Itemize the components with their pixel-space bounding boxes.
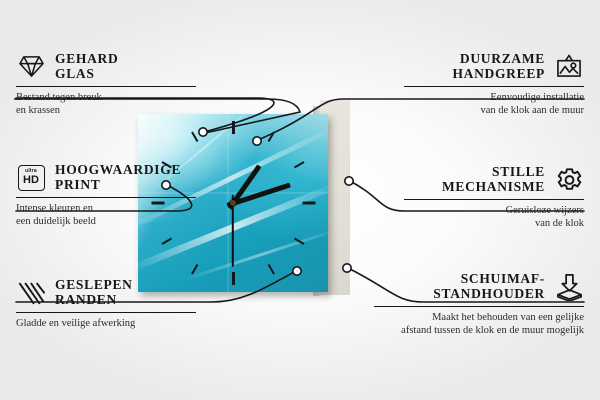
feature-desc-line1: Intense kleuren en [16, 203, 93, 214]
diagonal-lines-icon [16, 279, 46, 307]
feature-description: Gladde en veilige afwerking [16, 318, 196, 331]
feature-divider [404, 86, 584, 87]
feature-geslepen-randen: GESLEPEN RANDEN Gladde en veilige afwerk… [16, 278, 196, 331]
feature-desc-line1: Geruisloze wijzers [506, 205, 584, 216]
feature-desc-line1: Bestand tegen breuk [16, 92, 102, 103]
infographic-canvas: GEHARD GLAS Bestand tegen breuk en krass… [0, 0, 600, 400]
feature-divider [16, 312, 196, 313]
feature-title-line2: MECHANISME [442, 179, 545, 194]
feature-title-line1: GESLEPEN [55, 277, 133, 292]
feature-stille-mechanisme: STILLE MECHANISME Geruisloze wijzers van… [404, 165, 584, 230]
picture-frame-icon [554, 53, 584, 81]
feature-title-line2: STANDHOUDER [433, 286, 545, 301]
feature-desc-line1: Maakt het behouden van een gelijke [432, 312, 584, 323]
feature-desc-line1: Gladde en veilige afwerking [16, 318, 135, 329]
feature-divider [404, 199, 584, 200]
feature-description: Maakt het behouden van een gelijke afsta… [374, 312, 584, 337]
feature-header: DUURZAME HANDGREEP [404, 52, 584, 81]
feature-desc-line2: een duidelijk beeld [16, 216, 96, 227]
feature-description: Eenvoudige installatie van de klok aan d… [404, 92, 584, 117]
feature-description: Geruisloze wijzers van de klok [404, 205, 584, 230]
feature-title-line1: HOOGWAARDIGE [55, 162, 181, 177]
feature-desc-line2: afstand tussen de klok en de muur mogeli… [401, 325, 584, 336]
feature-divider [16, 86, 196, 87]
gear-icon [554, 166, 584, 194]
feature-header: GESLEPEN RANDEN [16, 278, 196, 307]
feature-title-line1: GEHARD [55, 51, 118, 66]
feature-description: Bestand tegen breuk en krassen [16, 92, 196, 117]
feature-schuimafstandhouder: SCHUIMAF- STANDHOUDER Maakt het behouden… [374, 272, 584, 337]
diamond-icon [16, 53, 46, 81]
clock-tick [232, 272, 235, 285]
feature-header: GEHARD GLAS [16, 52, 196, 81]
feature-description: Intense kleuren en een duidelijk beeld [16, 203, 196, 228]
feature-divider [16, 197, 196, 198]
feature-title-line2: PRINT [55, 177, 101, 192]
feature-header: STILLE MECHANISME [404, 165, 584, 194]
feature-title-line2: RANDEN [55, 292, 117, 307]
feature-desc-line2: en krassen [16, 105, 60, 116]
feature-duurzame-handgreep: DUURZAME HANDGREEP Eenvoudige installati… [404, 52, 584, 117]
feature-gehard-glas: GEHARD GLAS Bestand tegen breuk en krass… [16, 52, 196, 117]
feature-title-line1: DUURZAME [460, 51, 545, 66]
feature-title-line2: HANDGREEP [452, 66, 545, 81]
feature-divider [374, 306, 584, 307]
feature-title-line1: SCHUIMAF- [461, 271, 545, 286]
feature-title-line2: GLAS [55, 66, 95, 81]
feature-desc-line1: Eenvoudige installatie [490, 92, 584, 103]
clock-hub [230, 200, 236, 206]
feature-desc-line2: van de klok [535, 218, 584, 229]
feature-header: ultra HD HOOGWAARDIGE PRINT [16, 163, 196, 192]
feature-title-line1: STILLE [492, 164, 545, 179]
feature-desc-line2: van de klok aan de muur [480, 105, 584, 116]
feature-header: SCHUIMAF- STANDHOUDER [374, 272, 584, 301]
feature-hoogwaardige-print: ultra HD HOOGWAARDIGE PRINT Intense kleu… [16, 163, 196, 228]
arrow-press-pad-icon [554, 273, 584, 301]
clock-tick [303, 202, 316, 205]
ultra-hd-icon: ultra HD [16, 164, 46, 192]
clock-tick [232, 121, 235, 134]
ultra-hd-main-label: HD [23, 175, 39, 186]
